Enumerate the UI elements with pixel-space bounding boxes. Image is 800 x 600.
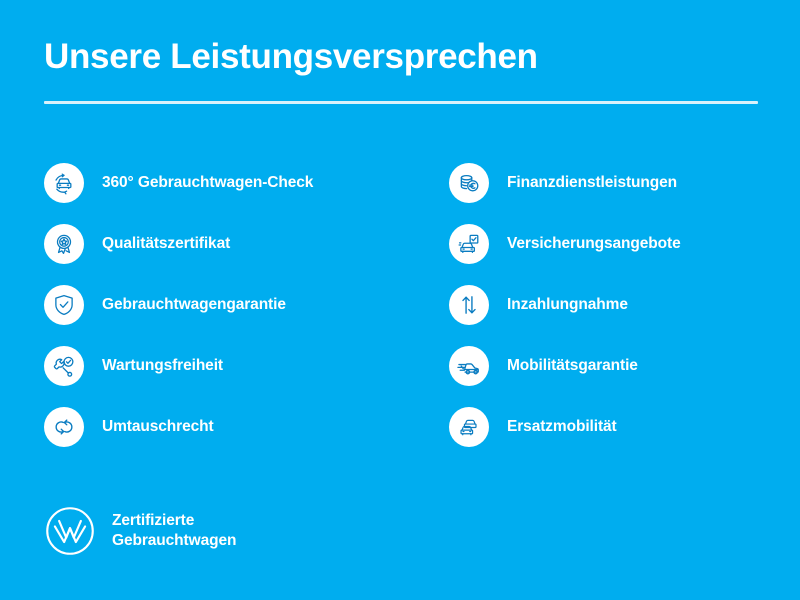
- slide-root: Unsere Leistungsversprechen 360° Gebrauc…: [0, 0, 800, 600]
- feature-label: Qualitätszertifikat: [102, 236, 230, 252]
- feature-label: 360° Gebrauchtwagen-Check: [102, 175, 313, 191]
- feature-label: Finanzdienstleistungen: [507, 175, 677, 191]
- title-divider: [44, 101, 758, 104]
- feature-label: Gebrauchtwagengarantie: [102, 297, 286, 313]
- footer-line-1: Zertifizierte: [112, 512, 194, 529]
- feature-item: Inzahlungnahme: [449, 274, 760, 335]
- feature-item: Gebrauchtwagengarantie: [44, 274, 449, 335]
- exchange-arrows-icon: [44, 407, 84, 447]
- page-title: Unsere Leistungsversprechen: [44, 38, 760, 77]
- feature-item: Mobilitätsgarantie: [449, 335, 760, 396]
- up-down-arrows-icon: [449, 285, 489, 325]
- two-cars-icon: [449, 407, 489, 447]
- coins-euro-icon: [449, 163, 489, 203]
- feature-item: Qualitätszertifikat: [44, 213, 449, 274]
- feature-item: Finanzdienstleistungen: [449, 152, 760, 213]
- feature-label: Umtauschrecht: [102, 419, 214, 435]
- feature-label: Wartungsfreiheit: [102, 358, 223, 374]
- car-document-check-icon: [449, 224, 489, 264]
- feature-label: Ersatzmobilität: [507, 419, 617, 435]
- feature-label: Inzahlungnahme: [507, 297, 628, 313]
- feature-item: Wartungsfreiheit: [44, 335, 449, 396]
- feature-item: Umtauschrecht: [44, 396, 449, 457]
- wrench-check-icon: [44, 346, 84, 386]
- shield-check-icon: [44, 285, 84, 325]
- features-grid: 360° Gebrauchtwagen-Check Finanzdienstle…: [44, 152, 760, 457]
- award-rosette-icon: [44, 224, 84, 264]
- car-360-check-icon: [44, 163, 84, 203]
- feature-item: Versicherungsangebote: [449, 213, 760, 274]
- footer-brand: Zertifizierte Gebrauchtwagen: [44, 505, 236, 557]
- feature-label: Mobilitätsgarantie: [507, 358, 638, 374]
- footer-brand-text: Zertifizierte Gebrauchtwagen: [112, 511, 236, 551]
- feature-item: Ersatzmobilität: [449, 396, 760, 457]
- header: Unsere Leistungsversprechen: [44, 38, 760, 104]
- feature-item: 360° Gebrauchtwagen-Check: [44, 152, 449, 213]
- feature-label: Versicherungsangebote: [507, 236, 681, 252]
- volkswagen-logo-icon: [44, 505, 96, 557]
- footer-line-2: Gebrauchtwagen: [112, 532, 236, 549]
- moving-car-icon: [449, 346, 489, 386]
